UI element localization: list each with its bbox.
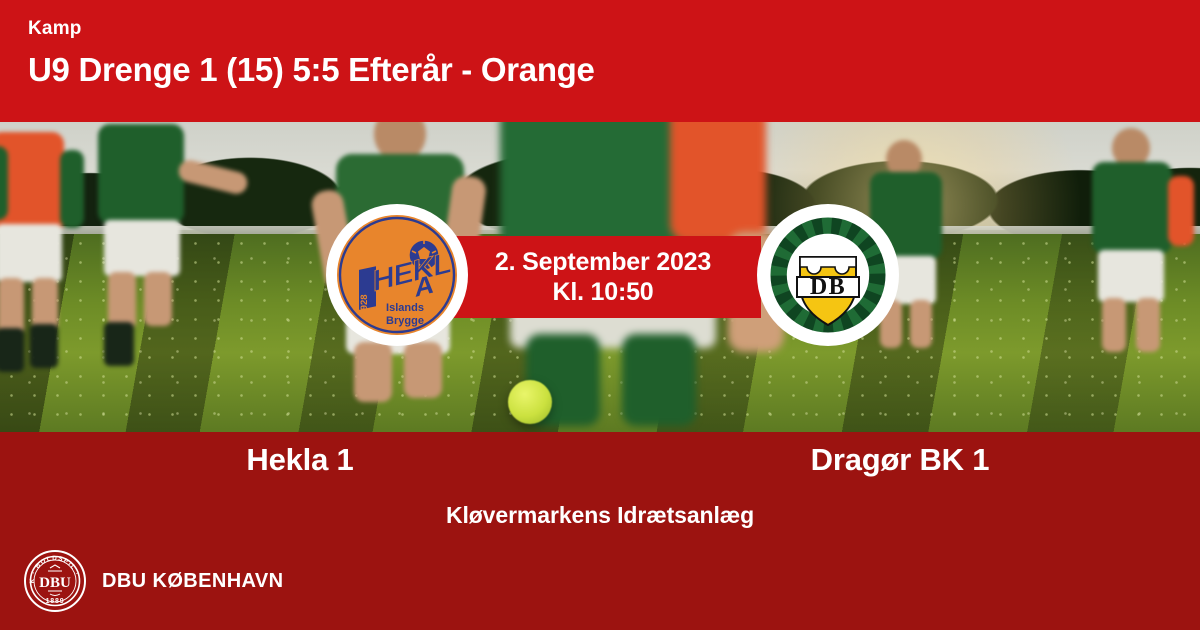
dragoer-monogram: DB <box>810 274 846 300</box>
football-icon <box>508 380 552 424</box>
dbu-monogram: DBU <box>39 575 71 591</box>
match-time: Kl. 10:50 <box>552 277 653 307</box>
home-team-name: Hekla 1 <box>0 440 600 480</box>
dbu-emblem-icon: DANSK · BOLDSPIL · UNION DBU 1889 <box>24 550 86 612</box>
photo-player-right-2 <box>1078 128 1196 354</box>
match-announcement-card: Kamp U9 Drenge 1 (15) 5:5 Efterår - Oran… <box>0 0 1200 630</box>
hekla-club-line1: Islands <box>386 302 424 314</box>
dragoer-crest-icon: DB <box>766 213 890 337</box>
team-names-row: Hekla 1 Dragør BK 1 <box>0 440 1200 492</box>
away-team-crest: DB <box>757 204 899 346</box>
venue-name: Kløvermarkens Idrætsanlæg <box>0 500 1200 530</box>
footer-org-name: DBU KØBENHAVN <box>102 570 284 593</box>
match-date: 2. September 2023 <box>495 247 711 277</box>
match-datetime-banner: 2. September 2023 Kl. 10:50 <box>445 236 761 318</box>
hekla-club-line2: Brygge <box>386 315 424 327</box>
hekla-year: 1928 <box>359 294 370 315</box>
away-team-name: Dragør BK 1 <box>600 440 1200 480</box>
header-band: Kamp U9 Drenge 1 (15) 5:5 Efterår - Oran… <box>0 0 1200 122</box>
hekla-letter-a: A <box>415 269 434 303</box>
hekla-crest-icon: 1928 HEKL HEKL A Islands Brygge <box>335 213 459 337</box>
page-title: U9 Drenge 1 (15) 5:5 Efterår - Orange <box>28 48 1200 92</box>
dbu-year: 1889 <box>46 598 65 605</box>
photo-player-green-1 <box>82 124 212 364</box>
header-eyebrow: Kamp <box>28 18 1200 40</box>
home-team-crest: 1928 HEKL HEKL A Islands Brygge <box>326 204 468 346</box>
footer: DANSK · BOLDSPIL · UNION DBU 1889 DBU KØ… <box>24 550 284 612</box>
